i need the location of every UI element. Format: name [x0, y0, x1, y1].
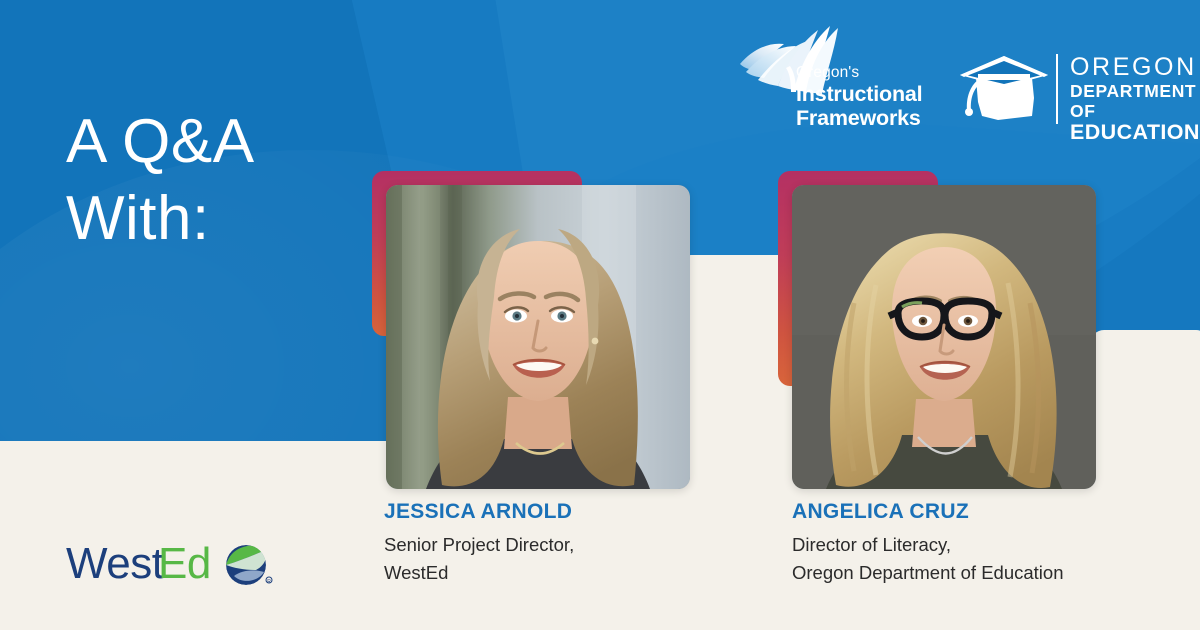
svg-text:West: West: [66, 539, 164, 588]
oregon-instructional-frameworks-logo: Oregon's Instructional Frameworks: [726, 22, 926, 122]
speaker-photo-angelica-cruz: [792, 185, 1096, 489]
svg-text:R: R: [267, 579, 271, 585]
decorative-cream-panel-right: [1090, 330, 1200, 580]
ode-logo-line3: EDUCATION: [1070, 121, 1200, 145]
oif-logo-line3: Frameworks: [796, 106, 922, 130]
speaker-role: Senior Project Director, WestEd: [384, 531, 574, 587]
wested-globe-icon: [226, 545, 267, 585]
graduation-cap-oregon-icon: [958, 54, 1050, 133]
wested-logo: West Ed R: [66, 536, 276, 592]
ode-logo-line1: OREGON: [1070, 54, 1200, 80]
promo-graphic-canvas: A Q&A With:: [0, 0, 1200, 630]
speaker-caption-jessica-arnold: JESSICA ARNOLD Senior Project Director, …: [384, 500, 574, 587]
oif-logo-line2: Instructional: [796, 82, 922, 106]
svg-text:Ed: Ed: [158, 539, 211, 588]
ode-logo-line2: DEPARTMENT OF: [1070, 82, 1200, 121]
oregon-department-of-education-logo: OREGON DEPARTMENT OF EDUCATION: [958, 52, 1164, 130]
page-title: A Q&A With:: [66, 104, 255, 258]
ode-logo-divider: [1056, 54, 1058, 124]
speaker-name: JESSICA ARNOLD: [384, 500, 574, 524]
speaker-photo-jessica-arnold: [386, 185, 690, 489]
speaker-name: ANGELICA CRUZ: [792, 500, 1064, 524]
oif-logo-line1: Oregon's: [796, 64, 922, 82]
speaker-caption-angelica-cruz: ANGELICA CRUZ Director of Literacy, Oreg…: [792, 500, 1064, 587]
speaker-role: Director of Literacy, Oregon Department …: [792, 531, 1064, 587]
